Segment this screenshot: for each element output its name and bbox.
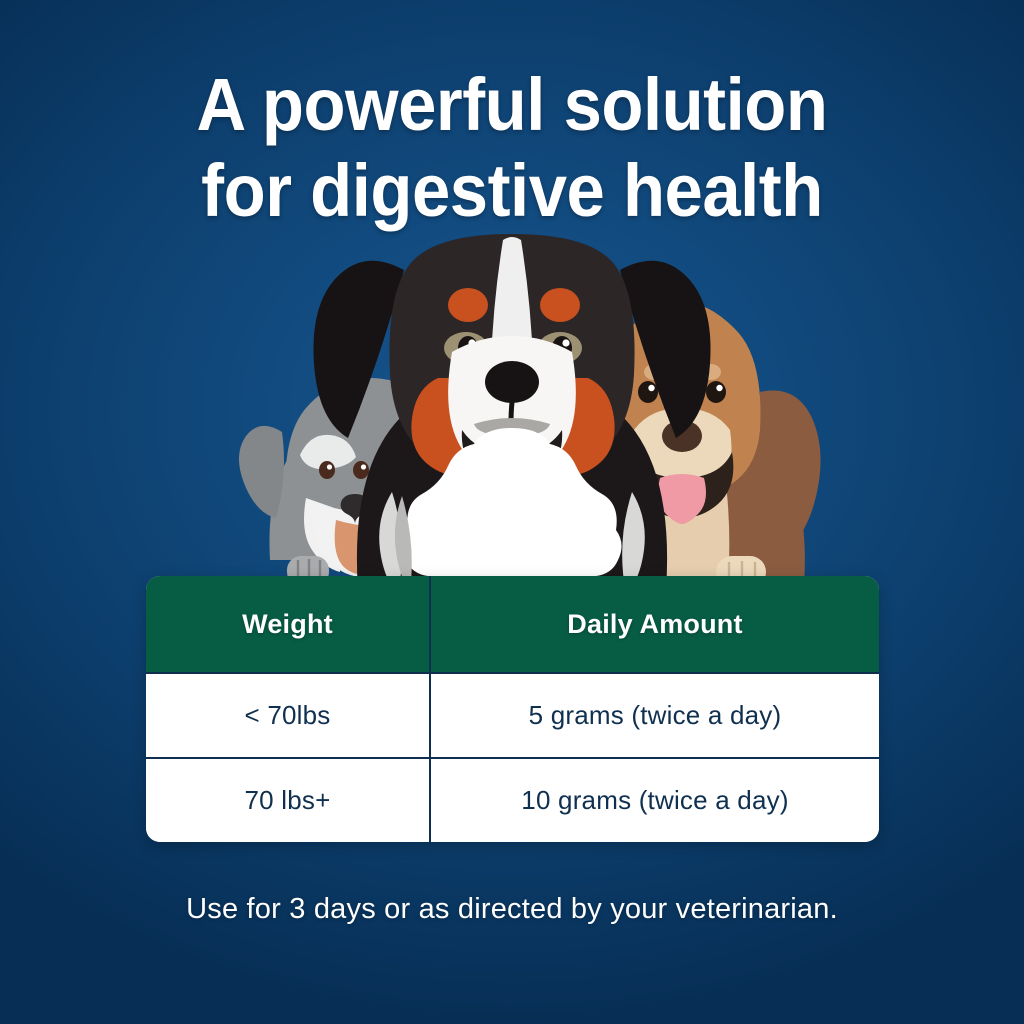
cell-daily-amount: 10 grams (twice a day) [431,759,879,842]
table-header-row: Weight Daily Amount [146,576,879,672]
cell-daily-amount: 5 grams (twice a day) [431,674,879,757]
table-row: 70 lbs+ 10 grams (twice a day) [146,757,879,842]
cell-weight: 70 lbs+ [146,759,431,842]
usage-footnote: Use for 3 days or as directed by your ve… [0,893,1024,926]
table-row: < 70lbs 5 grams (twice a day) [146,672,879,757]
infographic-canvas: A powerful solution for digestive health [0,0,1024,1024]
column-header-weight: Weight [146,576,431,672]
dogs-illustration [0,0,1024,1024]
cell-weight: < 70lbs [146,674,431,757]
column-header-daily-amount: Daily Amount [431,576,879,672]
dosage-table: Weight Daily Amount < 70lbs 5 grams (twi… [146,576,879,842]
